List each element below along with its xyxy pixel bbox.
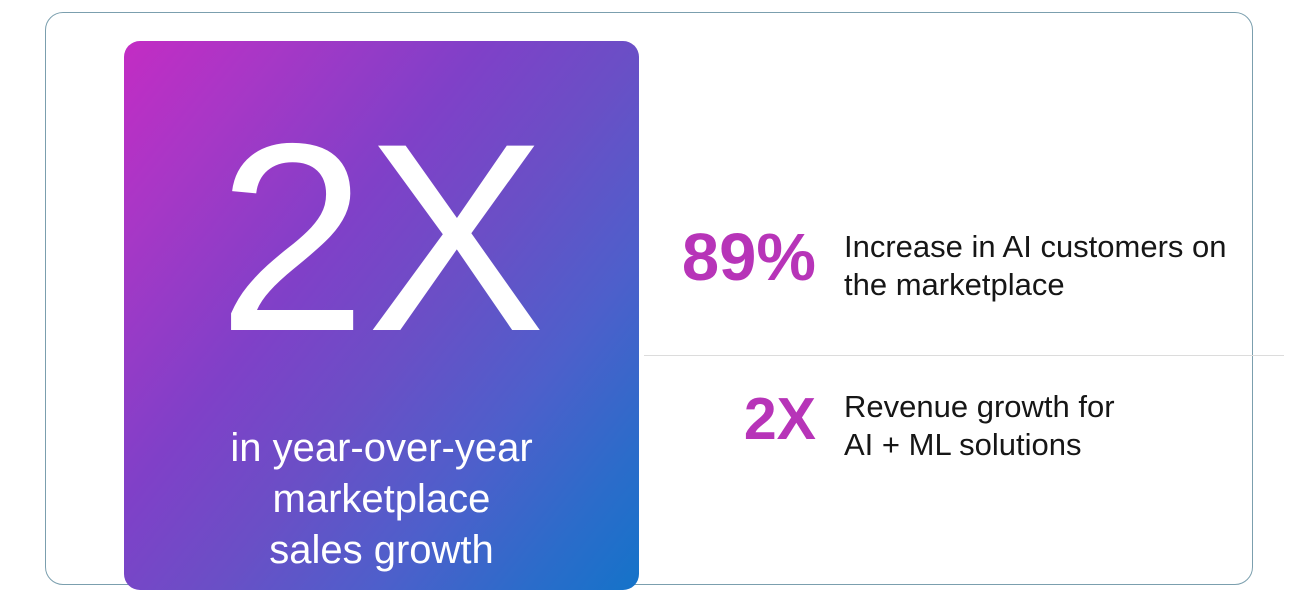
hero-caption-line-2: marketplace — [230, 474, 532, 525]
stat-figure: 89% — [644, 224, 844, 291]
stat-description-line-1: Increase in AI customers on — [844, 228, 1284, 266]
slide-frame: 2X in year-over-year marketplace sales g… — [45, 12, 1253, 585]
hero-caption-line-3: sales growth — [230, 525, 532, 576]
stat-description-line-2: the marketplace — [844, 266, 1284, 304]
hero-stat-card: 2X in year-over-year marketplace sales g… — [124, 41, 639, 590]
stat-row: 89% Increase in AI customers on the mark… — [644, 224, 1284, 305]
stat-description-line-2: AI + ML solutions — [844, 426, 1284, 464]
stat-description-line-1: Revenue growth for — [844, 388, 1284, 426]
hero-caption-line-1: in year-over-year — [230, 423, 532, 474]
stat-row: 2X Revenue growth for AI + ML solutions — [644, 384, 1284, 465]
hero-caption: in year-over-year marketplace sales grow… — [206, 423, 556, 577]
stats-column: 89% Increase in AI customers on the mark… — [644, 41, 1284, 590]
stat-divider — [644, 355, 1284, 356]
stat-figure: 2X — [644, 384, 844, 449]
stat-description: Revenue growth for AI + ML solutions — [844, 384, 1284, 465]
hero-headline: 2X — [218, 103, 546, 371]
stat-description: Increase in AI customers on the marketpl… — [844, 224, 1284, 305]
